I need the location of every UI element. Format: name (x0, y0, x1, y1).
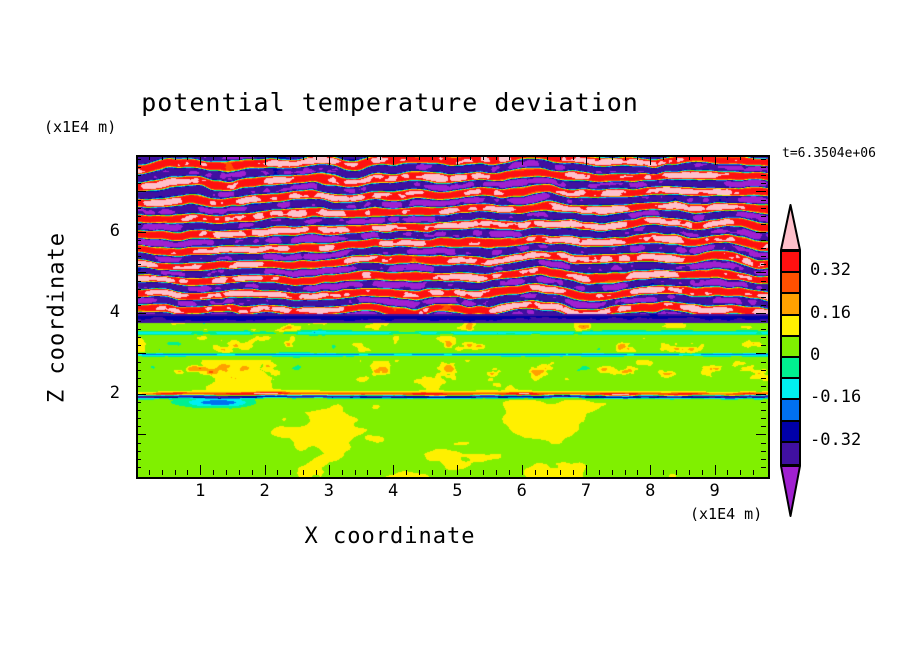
tick-mark (136, 256, 141, 257)
tick-mark (380, 470, 381, 475)
tick-mark (761, 208, 766, 209)
x-tick-label: 5 (442, 481, 472, 501)
tick-mark (535, 155, 536, 160)
tick-mark (761, 410, 766, 411)
tick-mark (200, 155, 201, 165)
tick-mark (612, 470, 613, 475)
timestamp-annotation: t=6.3504e+06 (782, 146, 876, 161)
tick-mark (702, 470, 703, 475)
tick-mark (136, 224, 141, 225)
tick-mark (162, 155, 163, 160)
tick-mark (329, 155, 330, 165)
tick-mark (136, 378, 141, 379)
tick-mark (761, 289, 766, 290)
tick-mark (175, 155, 176, 160)
colorbar-segment (782, 337, 799, 358)
tick-mark (136, 345, 141, 346)
colorbar-label: 0.32 (810, 260, 851, 280)
tick-mark (136, 451, 141, 452)
tick-mark (136, 240, 141, 241)
tick-mark (586, 465, 587, 475)
tick-mark (761, 297, 766, 298)
colorbar-segment (782, 400, 799, 421)
tick-mark (761, 167, 766, 168)
tick-mark (432, 155, 433, 160)
tick-mark (761, 216, 766, 217)
tick-mark (432, 470, 433, 475)
tick-mark (756, 353, 766, 354)
tick-mark (509, 155, 510, 160)
tick-mark (496, 470, 497, 475)
tick-mark (329, 465, 330, 475)
tick-mark (761, 183, 766, 184)
tick-mark (483, 155, 484, 160)
tick-mark (136, 434, 146, 435)
tick-mark (136, 183, 141, 184)
tick-mark (265, 155, 266, 165)
tick-mark (252, 155, 253, 160)
tick-mark (509, 470, 510, 475)
tick-mark (136, 410, 141, 411)
tick-mark (136, 321, 141, 322)
tick-mark (560, 155, 561, 160)
temperature-deviation-field (138, 157, 768, 477)
tick-mark (457, 465, 458, 475)
y-tick-label: 6 (96, 221, 120, 241)
tick-mark (761, 224, 766, 225)
tick-mark (136, 289, 141, 290)
tick-mark (136, 216, 141, 217)
tick-mark (136, 248, 141, 249)
tick-mark (663, 470, 664, 475)
tick-mark (483, 470, 484, 475)
tick-mark (625, 470, 626, 475)
tick-mark (136, 443, 141, 444)
tick-mark (136, 402, 141, 403)
tick-mark (290, 470, 291, 475)
tick-mark (136, 232, 146, 233)
tick-mark (470, 155, 471, 160)
colorbar-segment (782, 443, 799, 464)
tick-mark (136, 297, 141, 298)
tick-mark (239, 155, 240, 160)
tick-mark (187, 155, 188, 160)
tick-mark (547, 470, 548, 475)
tick-mark (727, 470, 728, 475)
tick-mark (136, 370, 141, 371)
tick-mark (702, 155, 703, 160)
tick-mark (761, 418, 766, 419)
tick-mark (136, 459, 141, 460)
colorbar-under-arrow (780, 465, 801, 517)
tick-mark (213, 155, 214, 160)
tick-mark (612, 155, 613, 160)
tick-mark (406, 470, 407, 475)
tick-mark (290, 155, 291, 160)
tick-mark (637, 470, 638, 475)
tick-mark (740, 470, 741, 475)
tick-mark (761, 175, 766, 176)
tick-mark (689, 470, 690, 475)
tick-mark (761, 362, 766, 363)
tick-mark (226, 155, 227, 160)
x-axis-title: X coordinate (0, 524, 780, 549)
figure-canvas: potential temperature deviation (x1E4 m)… (0, 0, 904, 654)
tick-mark (136, 394, 146, 395)
tick-mark (761, 402, 766, 403)
tick-mark (136, 305, 141, 306)
tick-mark (226, 470, 227, 475)
tick-mark (625, 155, 626, 160)
tick-mark (496, 155, 497, 160)
tick-mark (265, 465, 266, 475)
x-tick-label: 7 (571, 481, 601, 501)
tick-mark (761, 256, 766, 257)
tick-mark (136, 200, 141, 201)
colorbar-segment (782, 379, 799, 400)
tick-mark (761, 378, 766, 379)
tick-mark (367, 470, 368, 475)
tick-mark (637, 155, 638, 160)
tick-mark (715, 465, 716, 475)
tick-mark (303, 155, 304, 160)
y-axis-unit-label: (x1E4 m) (44, 118, 116, 136)
tick-mark (761, 321, 766, 322)
y-axis-title: Z coordinate (45, 218, 70, 418)
tick-mark (756, 434, 766, 435)
tick-mark (740, 155, 741, 160)
tick-mark (252, 470, 253, 475)
tick-mark (761, 200, 766, 201)
x-tick-label: 1 (185, 481, 215, 501)
tick-mark (761, 305, 766, 306)
tick-mark (663, 155, 664, 160)
tick-mark (136, 467, 141, 468)
tick-mark (136, 191, 146, 192)
tick-mark (136, 208, 141, 209)
tick-mark (316, 155, 317, 160)
tick-mark (756, 394, 766, 395)
tick-mark (753, 470, 754, 475)
tick-mark (380, 155, 381, 160)
tick-mark (761, 426, 766, 427)
tick-mark (560, 470, 561, 475)
colorbar (780, 250, 801, 466)
tick-mark (756, 191, 766, 192)
tick-mark (761, 329, 766, 330)
tick-mark (136, 167, 141, 168)
colorbar-label: 0.16 (810, 303, 851, 323)
tick-mark (136, 264, 141, 265)
tick-mark (689, 155, 690, 160)
tick-mark (756, 232, 766, 233)
tick-mark (761, 264, 766, 265)
tick-mark (761, 386, 766, 387)
tick-mark (445, 155, 446, 160)
tick-mark (419, 155, 420, 160)
tick-mark (175, 470, 176, 475)
tick-mark (136, 418, 141, 419)
y-tick-label: 4 (96, 302, 120, 322)
tick-mark (149, 155, 150, 160)
tick-mark (239, 470, 240, 475)
tick-mark (136, 353, 146, 354)
x-tick-label: 8 (635, 481, 665, 501)
tick-mark (761, 337, 766, 338)
colorbar-segment (782, 358, 799, 379)
tick-mark (761, 443, 766, 444)
tick-mark (136, 337, 141, 338)
tick-mark (136, 426, 141, 427)
tick-mark (761, 248, 766, 249)
tick-mark (419, 470, 420, 475)
tick-mark (599, 155, 600, 160)
colorbar-segment (782, 316, 799, 337)
tick-mark (136, 272, 146, 273)
tick-mark (547, 155, 548, 160)
colorbar-over-arrow (780, 204, 801, 251)
tick-mark (756, 313, 766, 314)
tick-mark (727, 155, 728, 160)
tick-mark (761, 159, 766, 160)
tick-mark (355, 470, 356, 475)
tick-mark (650, 155, 651, 165)
tick-mark (342, 155, 343, 160)
tick-mark (650, 465, 651, 475)
tick-mark (457, 155, 458, 165)
colorbar-segment (782, 422, 799, 443)
tick-mark (753, 155, 754, 160)
colorbar-label: -0.16 (810, 387, 861, 407)
tick-mark (136, 175, 141, 176)
tick-mark (303, 470, 304, 475)
contour-plot-area (136, 155, 770, 479)
tick-mark (393, 155, 394, 165)
x-tick-label: 3 (314, 481, 344, 501)
tick-mark (761, 451, 766, 452)
tick-mark (676, 470, 677, 475)
tick-mark (277, 155, 278, 160)
tick-mark (756, 272, 766, 273)
tick-mark (599, 470, 600, 475)
tick-mark (200, 465, 201, 475)
tick-mark (149, 470, 150, 475)
tick-mark (761, 240, 766, 241)
tick-mark (316, 470, 317, 475)
tick-mark (761, 281, 766, 282)
tick-mark (470, 470, 471, 475)
tick-mark (522, 155, 523, 165)
colorbar-segment (782, 273, 799, 294)
tick-mark (355, 155, 356, 160)
tick-mark (573, 470, 574, 475)
chart-title: potential temperature deviation (0, 88, 780, 117)
tick-mark (715, 155, 716, 165)
tick-mark (535, 470, 536, 475)
x-tick-label: 4 (378, 481, 408, 501)
tick-mark (367, 155, 368, 160)
colorbar-segment (782, 252, 799, 273)
tick-mark (761, 345, 766, 346)
x-tick-label: 6 (507, 481, 537, 501)
tick-mark (573, 155, 574, 160)
tick-mark (136, 159, 141, 160)
tick-mark (522, 465, 523, 475)
y-tick-label: 2 (96, 383, 120, 403)
tick-mark (586, 155, 587, 165)
tick-mark (136, 281, 141, 282)
tick-mark (136, 386, 141, 387)
colorbar-segment (782, 294, 799, 315)
tick-mark (406, 155, 407, 160)
tick-mark (162, 470, 163, 475)
tick-mark (393, 465, 394, 475)
tick-mark (213, 470, 214, 475)
x-tick-label: 9 (700, 481, 730, 501)
colorbar-label: -0.32 (810, 430, 861, 450)
tick-mark (136, 362, 141, 363)
tick-mark (445, 470, 446, 475)
tick-mark (761, 459, 766, 460)
tick-mark (277, 470, 278, 475)
tick-mark (761, 467, 766, 468)
tick-mark (136, 313, 146, 314)
tick-mark (761, 370, 766, 371)
x-axis-unit-label: (x1E4 m) (690, 505, 762, 523)
tick-mark (676, 155, 677, 160)
tick-mark (187, 470, 188, 475)
colorbar-label: 0 (810, 345, 820, 365)
x-tick-label: 2 (250, 481, 280, 501)
tick-mark (136, 329, 141, 330)
tick-mark (342, 470, 343, 475)
